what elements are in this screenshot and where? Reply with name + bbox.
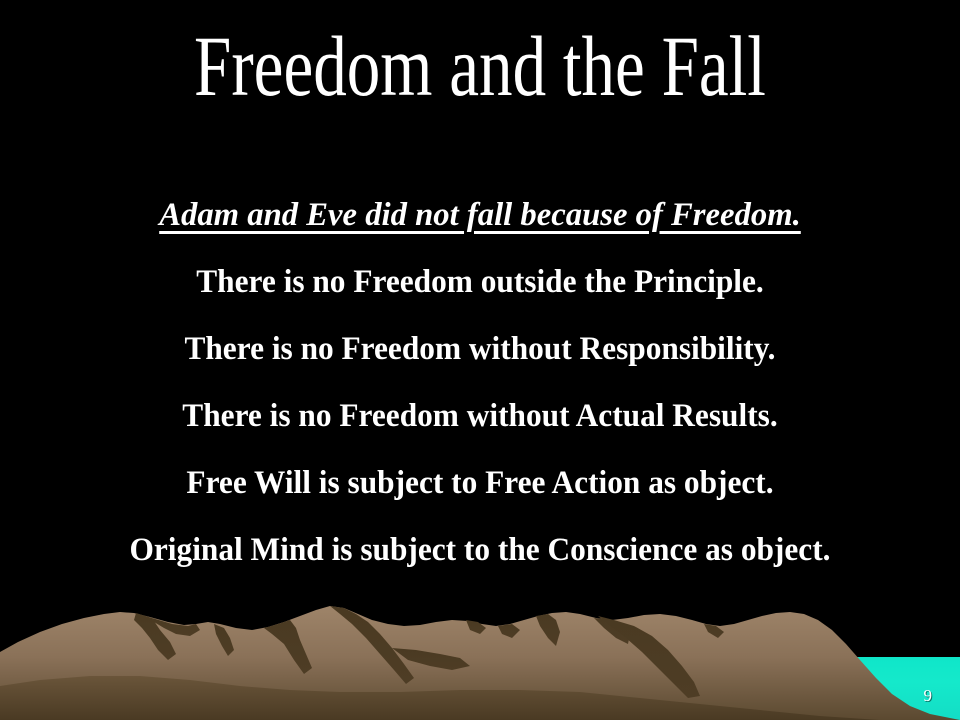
page-number: 9 (924, 686, 933, 706)
presentation-slide: Freedom and the Fall Adam and Eve did no… (0, 0, 960, 720)
body-line-2: There is no Freedom outside the Principl… (24, 249, 936, 316)
body-line-6: Original Mind is subject to the Conscien… (24, 517, 936, 584)
mountain-range (0, 580, 960, 720)
slide-title: Freedom and the Fall (106, 18, 855, 114)
body-line-5: Free Will is subject to Free Action as o… (24, 450, 936, 517)
slide-body: Adam and Eve did not fall because of Fre… (0, 182, 960, 584)
body-line-3: There is no Freedom without Responsibili… (24, 316, 936, 383)
body-line-1: Adam and Eve did not fall because of Fre… (5, 182, 955, 249)
body-line-4: There is no Freedom without Actual Resul… (24, 383, 936, 450)
